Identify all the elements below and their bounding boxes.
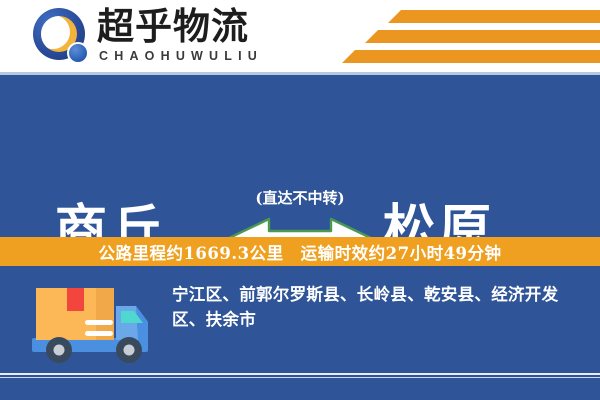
stripe-3 <box>342 50 600 63</box>
decorative-stripes <box>330 8 600 66</box>
coverage-section: 宁江区、前郭尔罗斯县、长岭县、乾安县、经济开发区、扶余市 <box>0 266 600 400</box>
bottom-divider-secondary <box>0 377 600 378</box>
brand-name-en: CHAOHUWULIU <box>99 49 263 63</box>
stripe-1 <box>388 10 600 23</box>
distance-duration-bar: 公路里程约1669.3公里 运输时效约27小时49分钟 <box>0 237 600 266</box>
logo-dot-shape <box>67 42 89 64</box>
delivery-truck-icon <box>28 280 160 370</box>
circle-crescent-logo-icon <box>33 8 93 66</box>
banner-header: 超乎物流 CHAOHUWULIU <box>0 0 600 72</box>
coverage-area-list: 宁江区、前郭尔罗斯县、长岭县、乾安县、经济开发区、扶余市 <box>172 282 586 332</box>
bottom-divider <box>0 373 600 375</box>
brand-name-cn: 超乎物流 <box>97 6 263 46</box>
route-panel: 商丘 (直达不中转) 【往返运输】 松原 <box>0 75 600 237</box>
distance-duration-text: 公路里程约1669.3公里 运输时效约27小时49分钟 <box>98 240 501 264</box>
brand-block: 超乎物流 CHAOHUWULIU <box>97 6 263 63</box>
logistics-route-banner: 超乎物流 CHAOHUWULIU 商丘 (直达不中转) 【往返运输】 松原 公路… <box>0 0 600 400</box>
direct-shipping-note: (直达不中转) <box>215 187 385 209</box>
stripe-2 <box>365 30 600 43</box>
